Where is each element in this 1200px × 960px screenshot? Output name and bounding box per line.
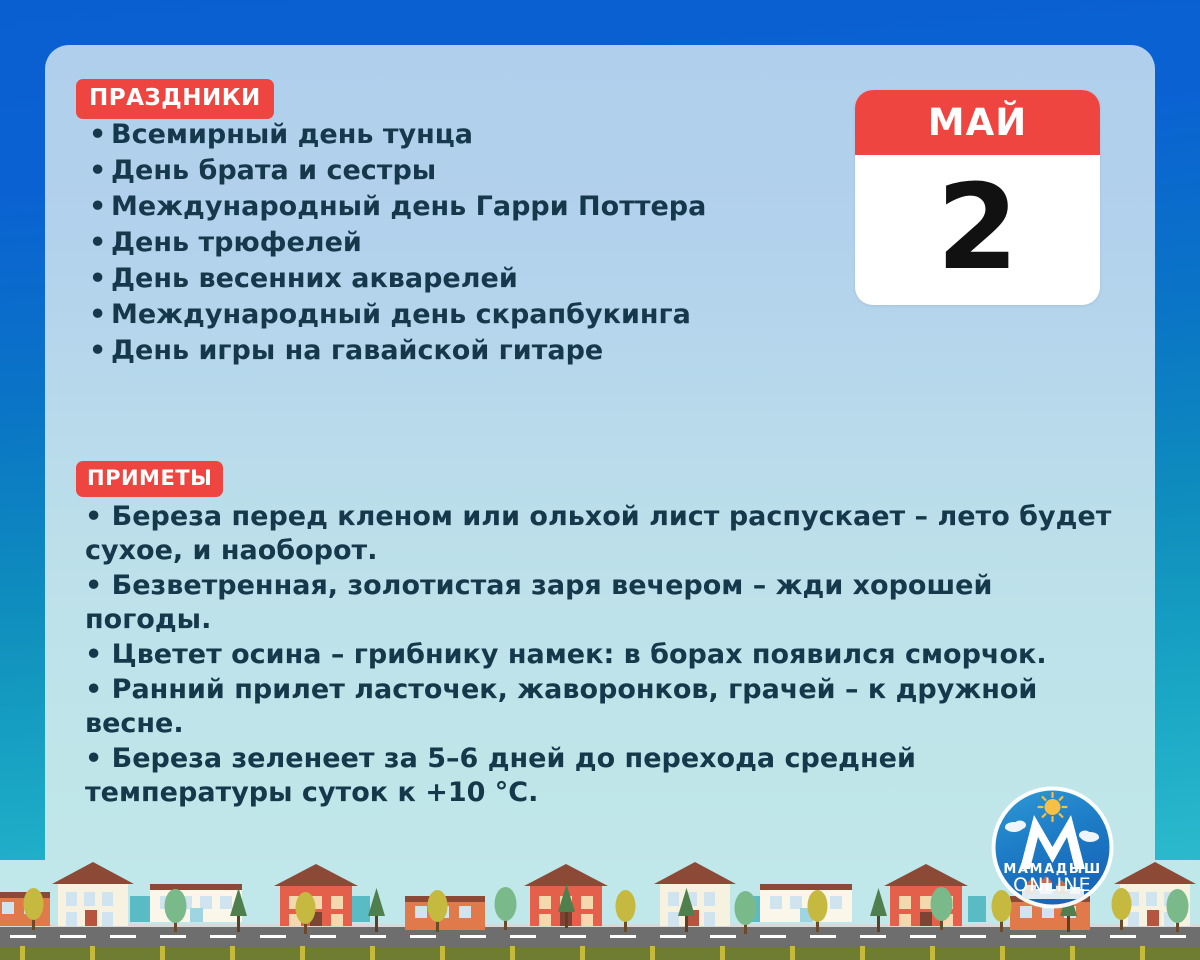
list-item: Международный день скрапбукинга: [87, 297, 887, 333]
list-item: День трюфелей: [87, 225, 887, 261]
list-item: • Береза зеленеет за 5–6 дней до переход…: [85, 742, 1125, 810]
calendar-month-label: МАЙ: [855, 90, 1100, 155]
list-item: • Цветет осина – грибнику намек: в борах…: [85, 638, 1125, 672]
list-item: • Безветренная, золотистая заря вечером …: [85, 569, 1125, 637]
omens-list: • Береза перед кленом или ольхой лист ра…: [85, 500, 1125, 811]
list-item: Международный день Гарри Поттера: [87, 189, 887, 225]
logo-secondary-text: ONLINE: [1013, 874, 1092, 896]
calendar-widget: МАЙ 2: [855, 90, 1100, 305]
calendar-day-number: 2: [855, 155, 1100, 305]
list-item: Всемирный день тунца: [87, 117, 887, 153]
list-item: • Ранний прилет ласточек, жаворонков, гр…: [85, 673, 1125, 741]
list-item: День брата и сестры: [87, 153, 887, 189]
holidays-list: Всемирный день тунца День брата и сестры…: [87, 117, 887, 369]
sun-icon: [1039, 793, 1067, 821]
omens-badge: ПРИМЕТЫ: [76, 461, 223, 497]
list-item: День весенних акварелей: [87, 261, 887, 297]
site-logo[interactable]: МАМАДЫШ ONLINE: [990, 785, 1115, 910]
holidays-badge: ПРАЗДНИКИ: [76, 79, 274, 119]
content-card: ПРАЗДНИКИ Всемирный день тунца День брат…: [45, 45, 1155, 915]
list-item: • Береза перед кленом или ольхой лист ра…: [85, 500, 1125, 568]
poster-root: ПРАЗДНИКИ Всемирный день тунца День брат…: [0, 0, 1200, 960]
list-item: День игры на гавайской гитаре: [87, 333, 887, 369]
